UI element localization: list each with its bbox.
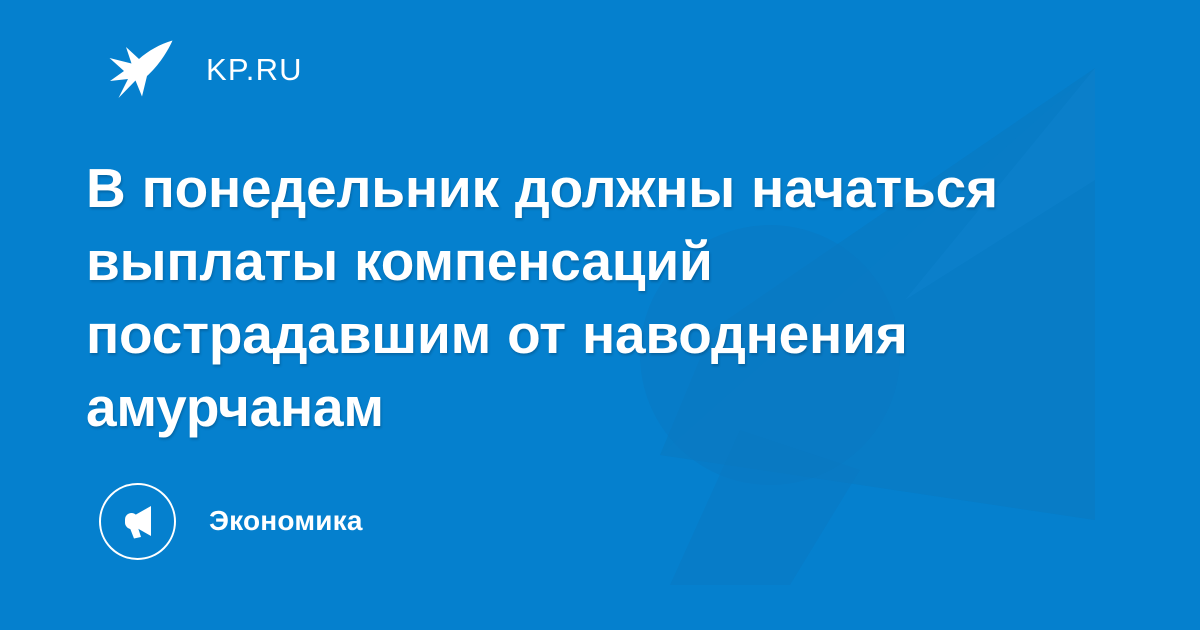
brand-logo-text: KP.RU — [206, 54, 303, 85]
category-label: Экономика — [209, 507, 363, 535]
megaphone-icon — [117, 500, 159, 542]
page-title: В понедельник должны начаться выплаты ко… — [86, 152, 1096, 444]
category-icon-circle — [99, 483, 176, 560]
kp-swallow-bird-icon — [108, 38, 174, 100]
article-share-card: KP.RU В понедельник должны начаться выпл… — [0, 0, 1200, 630]
site-header[interactable]: KP.RU — [108, 38, 303, 100]
category-badge[interactable]: Экономика — [99, 482, 363, 560]
